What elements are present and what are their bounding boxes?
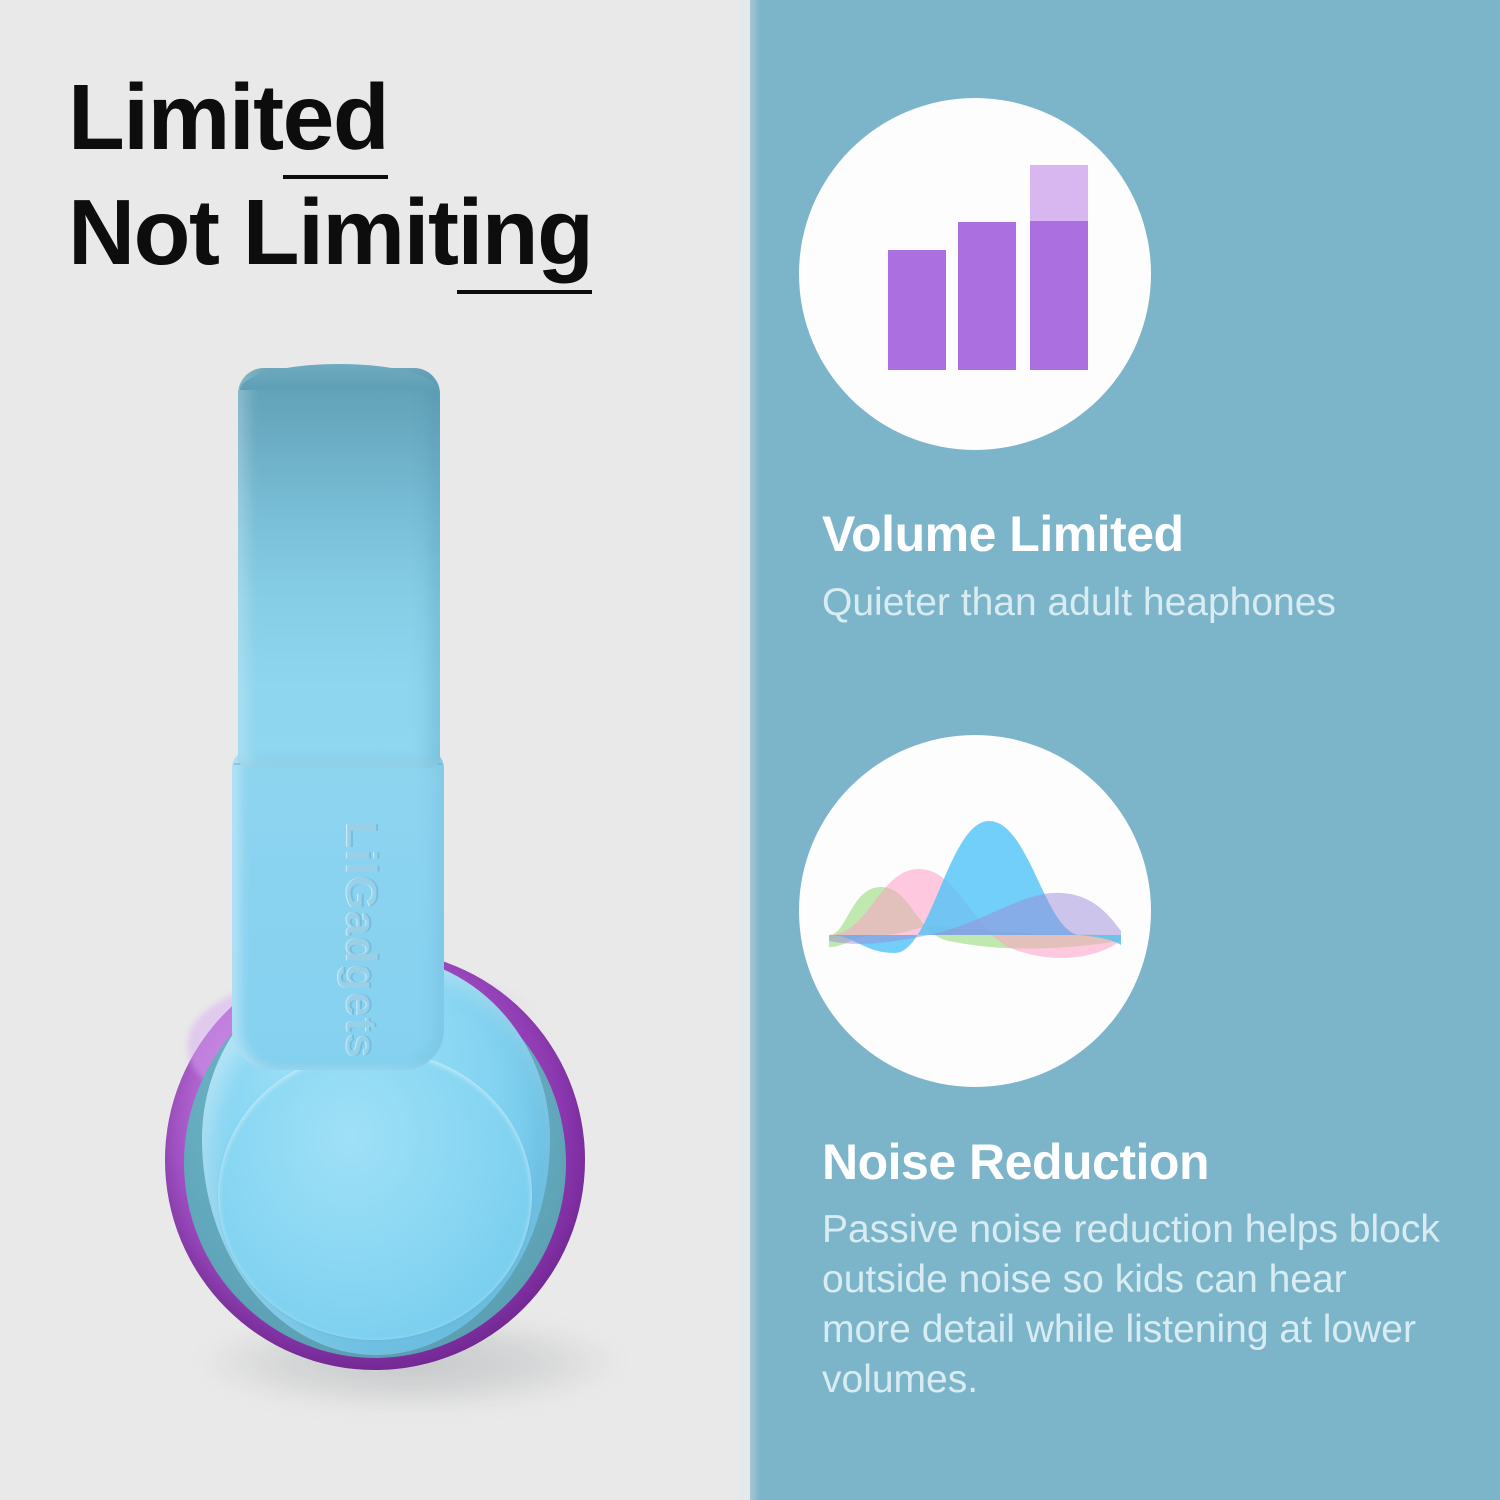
bar-2: [958, 222, 1016, 370]
bar-3-capped: [1030, 165, 1088, 221]
page-title: Limited Not Limiting: [68, 60, 728, 291]
product-feature-infographic: Limited Not Limiting LilGadgets Volume L…: [0, 0, 1500, 1500]
headline-line-1-plain: Limit: [68, 65, 283, 169]
bar-1: [888, 250, 946, 370]
noise-feature-title: Noise Reduction: [822, 1133, 1209, 1191]
headline-line-1: Limited: [68, 60, 728, 175]
noise-icon-badge: [799, 735, 1151, 1087]
volume-icon-badge: [799, 98, 1151, 450]
headband: [238, 368, 440, 768]
soundwave-icon: [799, 735, 1151, 1087]
volume-feature-body: Quieter than adult heaphones: [822, 578, 1442, 628]
headline-line-2-plain: Not Limit: [68, 180, 457, 284]
product-image: LilGadgets: [110, 350, 670, 1430]
headphone-arm: [232, 750, 444, 1070]
soundwave-waves: [829, 821, 1121, 958]
headline-line-2-underlined: ing: [457, 180, 592, 294]
volume-feature-title: Volume Limited: [822, 505, 1184, 563]
ear-cup-face: [218, 1050, 532, 1340]
headline-line-2: Not Limiting: [68, 175, 728, 290]
headline-line-1-underlined: ed: [283, 65, 389, 179]
noise-feature-body: Passive noise reduction helps block outs…: [822, 1205, 1442, 1405]
bar-3-allowed: [1030, 221, 1088, 370]
bar-chart-icon: [799, 98, 1151, 450]
